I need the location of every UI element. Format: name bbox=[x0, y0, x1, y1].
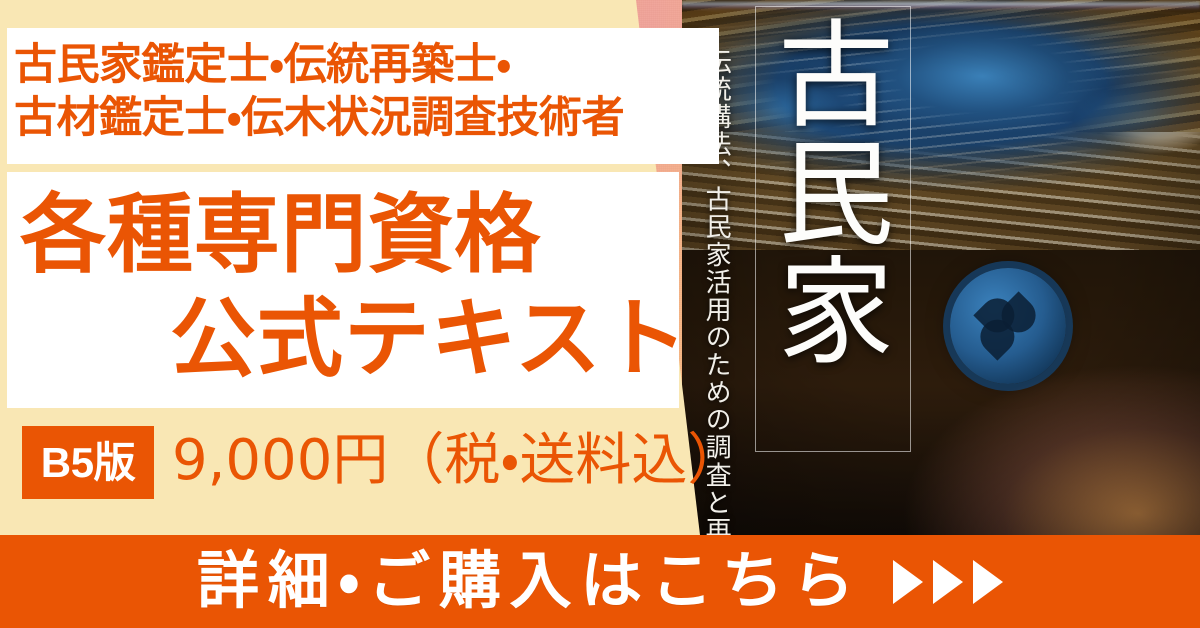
triangle-right-icon bbox=[933, 560, 963, 604]
book-title: 古民家 bbox=[770, 14, 894, 369]
headline-line-1: 各種専門資格 bbox=[20, 192, 541, 278]
qualifications-line-1: 古民家鑑定士・伝統再築士・ bbox=[14, 44, 511, 87]
headline-line-2: 公式テキスト bbox=[170, 296, 689, 382]
qualifications-line-2: 古材鑑定士・伝木状況調査技術者 bbox=[14, 97, 624, 140]
format-badge: B5版 bbox=[22, 426, 154, 499]
promo-banner: 古民家 伝統構法、古民家活用のための調査と再生の 古民家鑑定士・伝統再築士・ 古… bbox=[0, 0, 1200, 628]
cta-arrows bbox=[893, 560, 1003, 604]
triangle-right-icon bbox=[973, 560, 1003, 604]
price-text: 9,000円（税・送料込） bbox=[172, 433, 743, 489]
format-badge-label: B5版 bbox=[41, 442, 135, 484]
book-cover-photo: 古民家 伝統構法、古民家活用のための調査と再生の bbox=[682, 0, 1200, 535]
cta-label: 詳細・ご購入はこちら bbox=[197, 551, 863, 613]
cta-bar[interactable]: 詳細・ご購入はこちら bbox=[0, 535, 1200, 628]
triangle-right-icon bbox=[893, 560, 923, 604]
